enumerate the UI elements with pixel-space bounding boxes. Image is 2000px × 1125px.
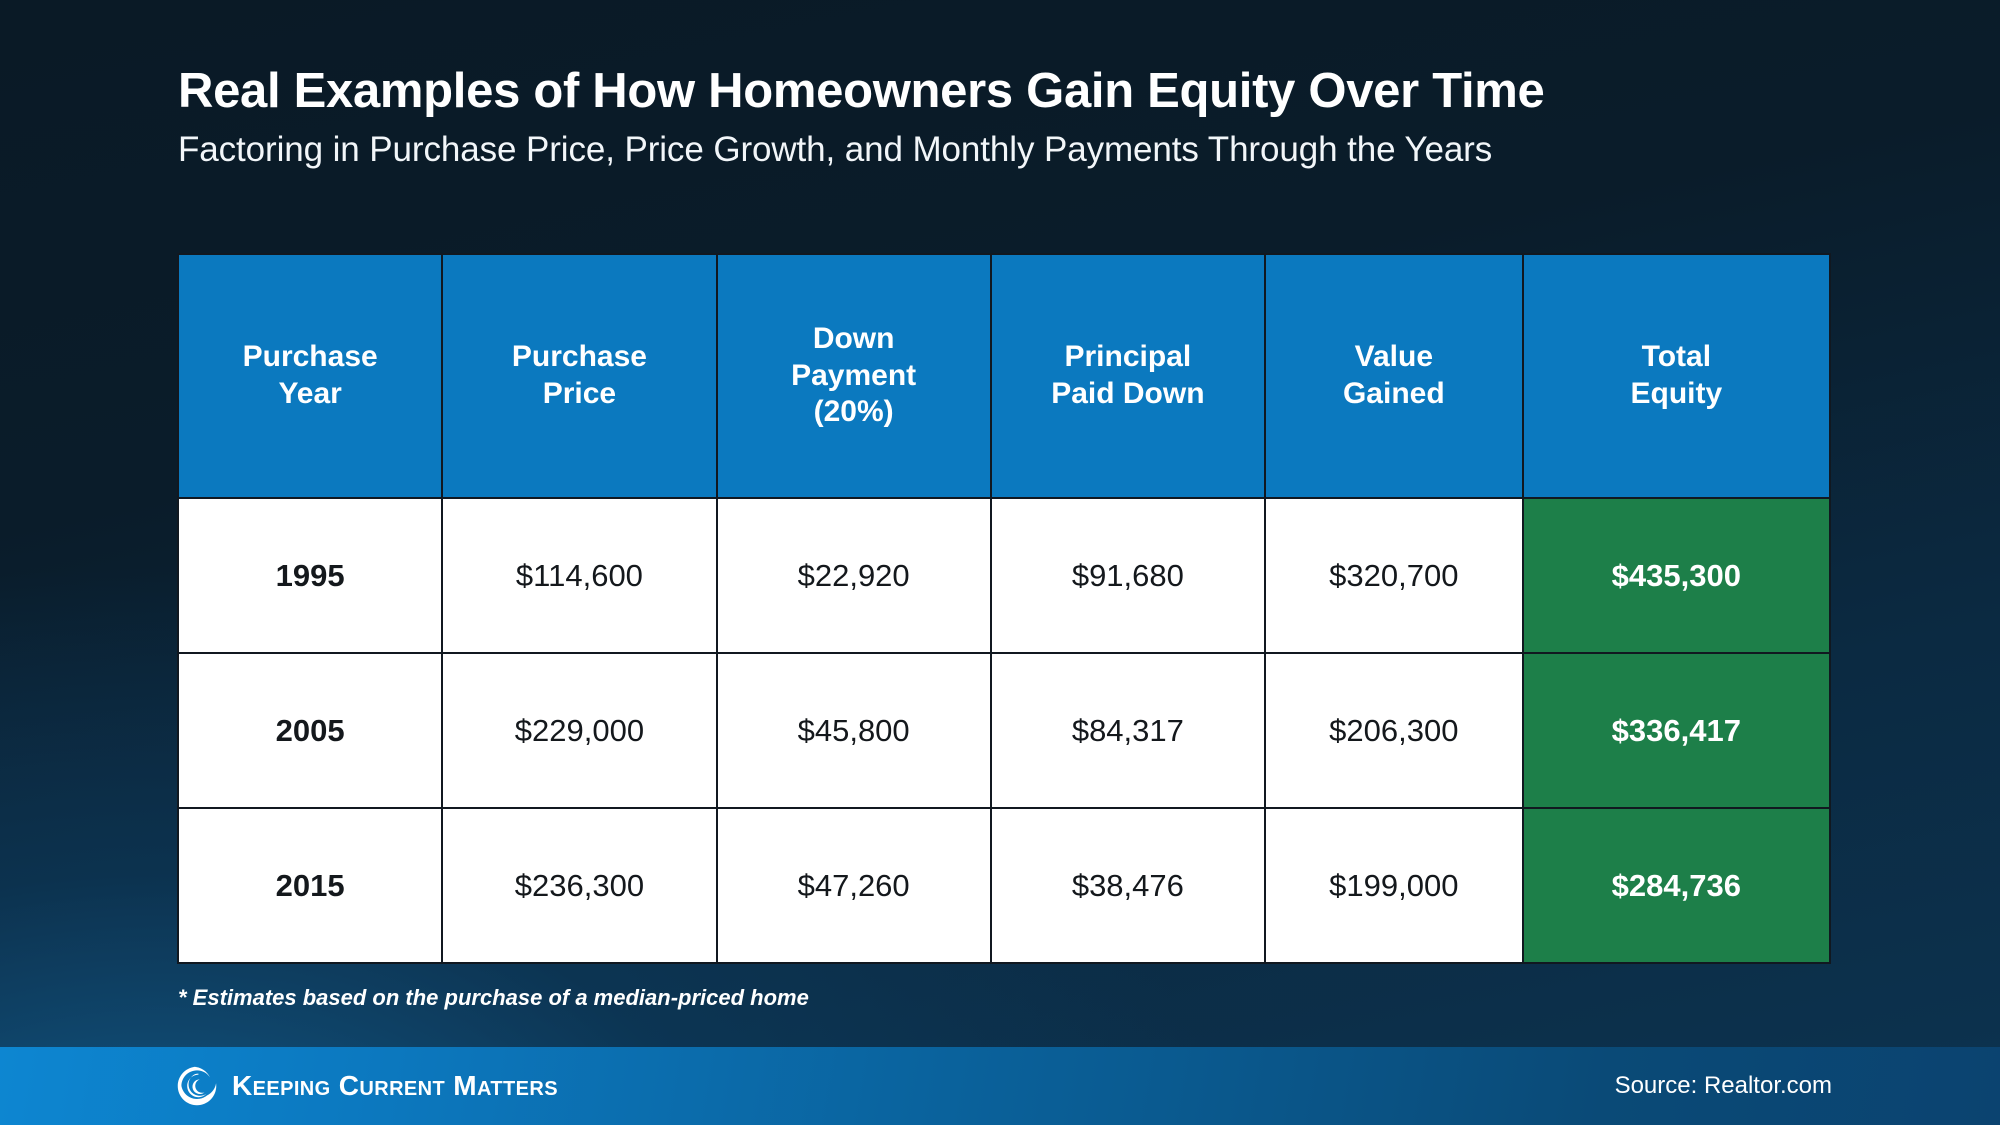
table-row: 2015 $236,300 $47,260 $38,476 $199,000 $…	[178, 808, 1830, 963]
cell-total-equity: $435,300	[1523, 498, 1830, 653]
table-header-row: Purchase Year Purchase Price Down Paymen…	[178, 254, 1830, 498]
cell-down-payment: $22,920	[717, 498, 991, 653]
brand-name: Keeping Current Matters	[232, 1070, 558, 1102]
column-header-down-payment: Down Payment (20%)	[717, 254, 991, 498]
heading-block: Real Examples of How Homeowners Gain Equ…	[178, 66, 1878, 170]
header-line: Equity	[1530, 376, 1823, 413]
table-header-row-group: Purchase Year Purchase Price Down Paymen…	[178, 254, 1830, 498]
cell-purchase-year: 2015	[178, 808, 442, 963]
equity-table-container: Purchase Year Purchase Price Down Paymen…	[177, 253, 1831, 964]
equity-table: Purchase Year Purchase Price Down Paymen…	[177, 253, 1831, 964]
header-line: Down	[724, 321, 984, 358]
column-header-value-gained: Value Gained	[1265, 254, 1523, 498]
header-line: Purchase	[185, 339, 435, 376]
header-line: Purchase	[449, 339, 709, 376]
table-footnote: * Estimates based on the purchase of a m…	[178, 985, 809, 1011]
infographic-canvas: Real Examples of How Homeowners Gain Equ…	[0, 0, 2000, 1125]
cell-value-gained: $199,000	[1265, 808, 1523, 963]
cell-principal-paid-down: $38,476	[991, 808, 1265, 963]
column-header-principal-paid-down: Principal Paid Down	[991, 254, 1265, 498]
cell-total-equity: $284,736	[1523, 808, 1830, 963]
source-label: Source: Realtor.com	[1615, 1072, 1832, 1100]
cell-value-gained: $206,300	[1265, 653, 1523, 808]
cell-purchase-price: $236,300	[442, 808, 716, 963]
header-line: Price	[449, 376, 709, 413]
cell-purchase-year: 1995	[178, 498, 442, 653]
header-line: Gained	[1272, 376, 1516, 413]
page-title: Real Examples of How Homeowners Gain Equ…	[178, 66, 1878, 117]
cell-value-gained: $320,700	[1265, 498, 1523, 653]
column-header-purchase-price: Purchase Price	[442, 254, 716, 498]
footer-inner: Keeping Current Matters Source: Realtor.…	[0, 1047, 2000, 1125]
table-row: 1995 $114,600 $22,920 $91,680 $320,700 $…	[178, 498, 1830, 653]
cell-down-payment: $45,800	[717, 653, 991, 808]
header-line: Principal	[998, 339, 1258, 376]
cell-purchase-year: 2005	[178, 653, 442, 808]
cell-purchase-price: $229,000	[442, 653, 716, 808]
cell-principal-paid-down: $84,317	[991, 653, 1265, 808]
header-line: (20%)	[724, 394, 984, 431]
cell-purchase-price: $114,600	[442, 498, 716, 653]
column-header-total-equity: Total Equity	[1523, 254, 1830, 498]
header-line: Paid Down	[998, 376, 1258, 413]
header-line: Value	[1272, 339, 1516, 376]
cell-total-equity: $336,417	[1523, 653, 1830, 808]
header-line: Total	[1530, 339, 1823, 376]
header-line: Payment	[724, 358, 984, 395]
column-header-purchase-year: Purchase Year	[178, 254, 442, 498]
brand-lockup: Keeping Current Matters	[176, 1065, 558, 1107]
spiral-circle-logo-icon	[176, 1065, 218, 1107]
cell-principal-paid-down: $91,680	[991, 498, 1265, 653]
table-row: 2005 $229,000 $45,800 $84,317 $206,300 $…	[178, 653, 1830, 808]
footer-bar: Keeping Current Matters Source: Realtor.…	[0, 1047, 2000, 1125]
table-body: 1995 $114,600 $22,920 $91,680 $320,700 $…	[178, 498, 1830, 963]
header-line: Year	[185, 376, 435, 413]
cell-down-payment: $47,260	[717, 808, 991, 963]
page-subtitle: Factoring in Purchase Price, Price Growt…	[178, 131, 1878, 170]
